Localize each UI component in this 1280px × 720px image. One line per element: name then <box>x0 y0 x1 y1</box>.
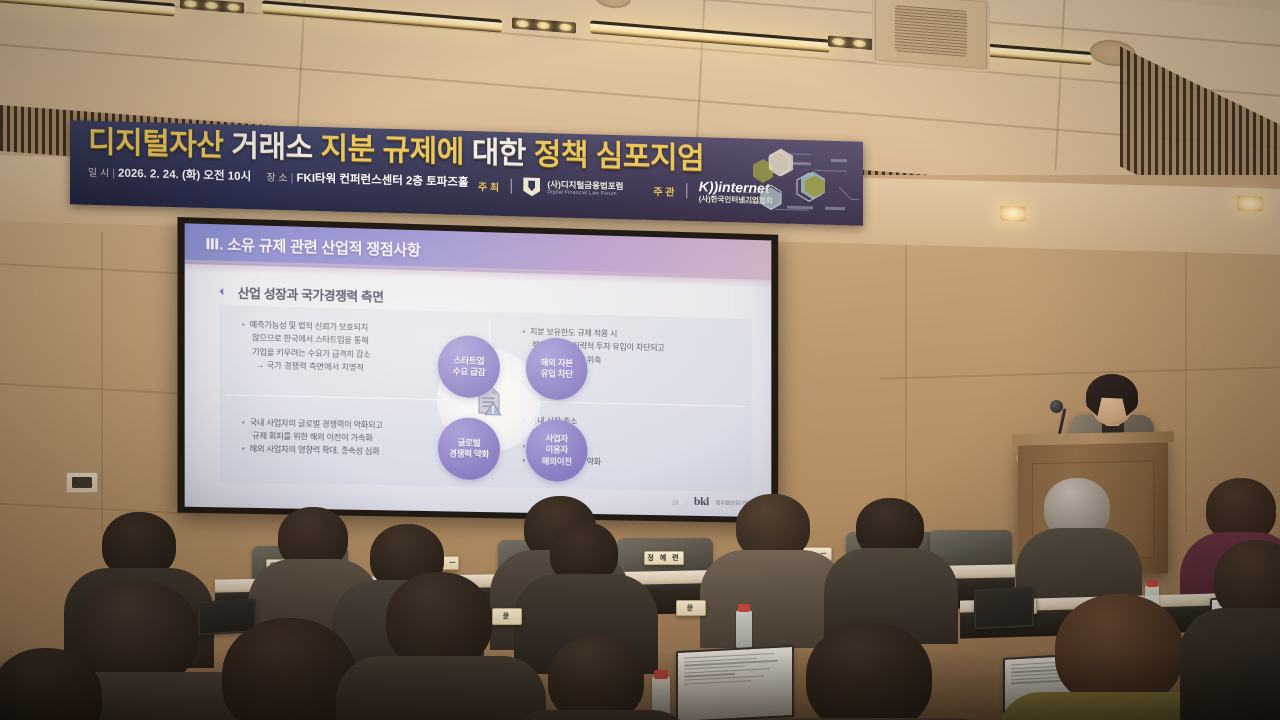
wall-control-panel[interactable] <box>66 472 98 493</box>
banner-place-key: 장 소 <box>266 173 287 185</box>
banner-date-value: 2026. 2. 24. (화) 오전 10시 <box>118 168 251 184</box>
hvac-diffuser <box>872 0 990 73</box>
bottle-cap <box>1147 580 1158 587</box>
circle-2-line-2: 유입 차단 <box>541 368 573 379</box>
wall-seam <box>1185 232 1187 532</box>
slide-header-band: Ⅲ. 소유 규제 관련 산업적 쟁점사항 <box>185 223 772 280</box>
q-tr-line-1: 지분 보유한도 규제 적용 시 <box>530 326 617 341</box>
bottle-cap <box>738 604 750 612</box>
organizer-key: 주 관 <box>653 183 674 199</box>
presentation-slide: Ⅲ. 소유 규제 관련 산업적 쟁점사항 산업 성장과 국가경쟁력 측면 ▪예측… <box>185 223 772 517</box>
q-bl-line-3: 해외 사업자의 영향력 확대, 종속성 심화 <box>250 444 380 459</box>
nameplate: 윤 <box>492 608 522 625</box>
slide-circle-global-competitiveness: 글로벌경쟁력 약화 <box>438 417 500 480</box>
circle-4-line-2: 이용자 <box>545 445 568 455</box>
circle-2-line-1: 해외 자본 <box>541 357 573 368</box>
diamond-bullet-icon <box>219 288 230 295</box>
banner-title-seg-4: 대한 <box>472 136 526 170</box>
slide-circle-offshore-migration: 사업자이용자해외이전 <box>526 419 588 482</box>
banner-date-key: 일 시 <box>88 168 109 180</box>
banner-place-value: FKI타워 컨퍼런스센터 2층 토파즈홀 <box>296 172 468 189</box>
slide-title: Ⅲ. 소유 규제 관련 산업적 쟁점사항 <box>205 233 420 260</box>
q-bl-line-2: 규제 회피를 위한 해외 이전이 가속화 <box>252 430 373 445</box>
conference-photo-scene: 디지털자산 거래소 지분 규제에 대한 정책 심포지엄 일 시|2026. 2.… <box>0 0 1280 720</box>
dflf-logo-icon <box>523 177 540 196</box>
nameplate: 정 혜 련 <box>644 551 684 565</box>
slide-section-label: 산업 성장과 국가경쟁력 측면 <box>238 282 384 305</box>
water-bottle <box>736 610 752 648</box>
circle-3-line-2: 경쟁력 약화 <box>449 448 489 459</box>
circle-4-line-3: 해외이전 <box>542 456 572 467</box>
banner-title-seg-1: 디지털자산 <box>88 126 224 163</box>
circle-1-line-1: 스타트업 <box>454 355 484 366</box>
nameplate-text: 정 혜 련 <box>647 554 680 563</box>
foreground-shadow <box>0 650 1280 720</box>
wall-seam <box>101 232 103 532</box>
host-key: 주 최 <box>478 178 499 194</box>
slide-circle-startup-demand: 스타트업수요 급감 <box>438 335 500 399</box>
banner-organizers: 주 최 | (사)디지털금융법포럼 Digital Financial Law … <box>478 173 773 205</box>
recessed-downlight <box>1000 205 1026 221</box>
recessed-downlight <box>1237 195 1263 211</box>
nameplate-text: 윤 <box>687 604 695 613</box>
nameplate: 윤 <box>676 600 706 616</box>
slide-circle-foreign-capital: 해외 자본유입 차단 <box>526 337 588 400</box>
circle-3-line-1: 글로벌 <box>458 437 481 447</box>
wall-seam <box>905 232 907 522</box>
host-name-en: Digital Financial Law Forum <box>547 189 623 198</box>
banner-title-seg-2: 거래소 <box>231 130 312 165</box>
circle-1-line-2: 수요 급감 <box>453 366 486 377</box>
microphone-head-icon <box>1050 400 1063 413</box>
banner-title-seg-3: 지분 규제에 <box>321 132 464 169</box>
slide-page-number: 16 <box>672 501 679 507</box>
nameplate-text: 윤 <box>503 612 511 621</box>
banner-title-seg-5: 정책 심포지엄 <box>534 138 704 176</box>
hexagon-circuit-decoration <box>739 138 859 225</box>
projection-screen: Ⅲ. 소유 규제 관련 산업적 쟁점사항 산업 성장과 국가경쟁력 측면 ▪예측… <box>177 217 778 523</box>
bkl-logo: bkl <box>694 495 709 507</box>
circle-4-line-1: 사업자 <box>545 433 568 443</box>
slide-section-bullet: 산업 성장과 국가경쟁력 측면 <box>219 282 383 306</box>
